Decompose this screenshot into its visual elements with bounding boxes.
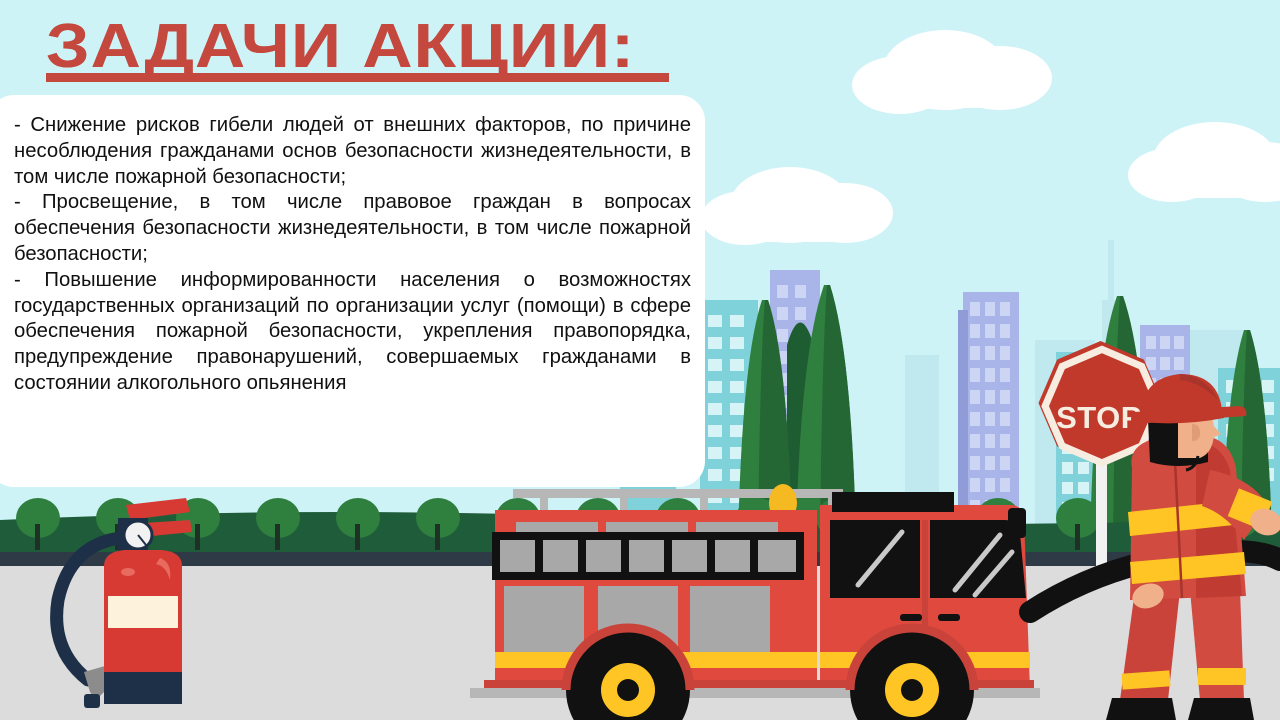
- objective-paragraph-1: - Снижение рисков гибели людей от внешни…: [14, 113, 691, 190]
- extinguisher-base: [104, 672, 182, 704]
- truck-cab-roofbox: [832, 492, 954, 512]
- slide-canvas: STOP: [0, 0, 1280, 720]
- truck-window-rear: [830, 520, 920, 598]
- objectives-text-card: - Снижение рисков гибели людей от внешни…: [0, 95, 705, 487]
- fire-truck-group: [470, 484, 1040, 720]
- firefighter-boot-back: [1106, 698, 1176, 720]
- page-title: ЗАДАЧИ АКЦИИ:: [46, 14, 744, 79]
- title-block: ЗАДАЧИ АКЦИИ:: [46, 14, 669, 82]
- objective-paragraph-2: - Просвещение, в том числе правовое граж…: [14, 190, 691, 267]
- stop-sign-pole: [1096, 455, 1107, 570]
- title-underline: [46, 73, 669, 82]
- firefighter-boot-front: [1188, 698, 1254, 720]
- stop-sign-text: STOP: [1056, 400, 1142, 435]
- extinguisher-label: [108, 596, 178, 628]
- objective-paragraph-3: - Повышение информированности населения …: [14, 268, 691, 397]
